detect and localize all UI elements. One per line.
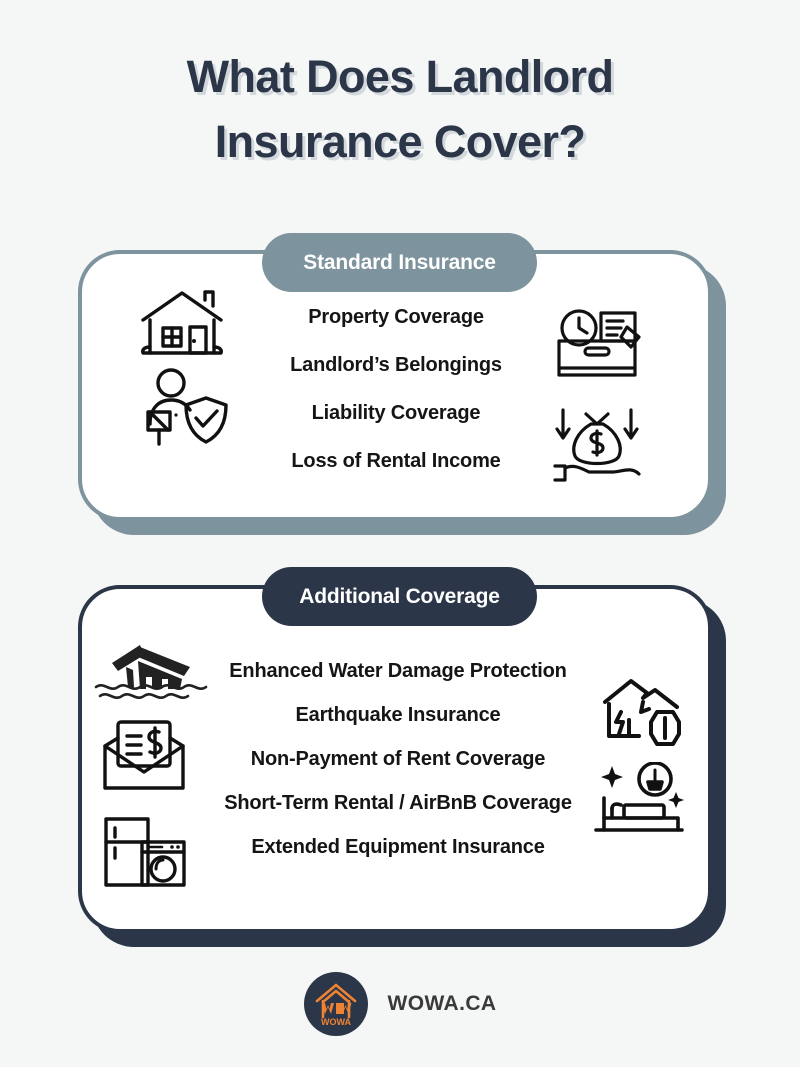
flooded-house-icon — [94, 643, 212, 701]
additional-coverage-pill: Additional Coverage — [262, 567, 537, 626]
belongings-box-icon — [551, 307, 643, 383]
list-item: Short-Term Rental / AirBnB Coverage — [140, 792, 656, 815]
page-title-line-1: What Does Landlord — [0, 44, 800, 109]
list-item: Liability Coverage — [186, 402, 606, 425]
cracked-house-icon — [599, 676, 683, 752]
list-item: Enhanced Water Damage Protection — [140, 660, 656, 683]
list-item: Property Coverage — [186, 306, 606, 329]
wowa-logo-icon[interactable]: WOWA — [304, 972, 368, 1036]
list-item: Extended Equipment Insurance — [140, 836, 656, 859]
list-item: Non-Payment of Rent Coverage — [140, 748, 656, 771]
site-label[interactable]: WOWA.CA — [388, 992, 497, 1016]
logo-wordmark: WOWA — [321, 1017, 351, 1027]
liability-person-shield-icon — [140, 368, 228, 450]
house-icon — [138, 287, 226, 363]
footer: WOWA WOWA.CA — [0, 972, 800, 1036]
list-item: Loss of Rental Income — [186, 450, 606, 473]
standard-insurance-pill: Standard Insurance — [262, 233, 537, 292]
money-bag-hand-icon — [551, 404, 643, 482]
standard-insurance-item-list: Property Coverage Landlord’s Belongings … — [186, 306, 606, 498]
page-title: What Does Landlord Insurance Cover? — [0, 44, 800, 175]
appliances-icon — [102, 816, 188, 890]
bed-cleaning-icon — [594, 762, 686, 834]
envelope-money-icon — [101, 718, 187, 794]
additional-coverage-item-list: Enhanced Water Damage Protection Earthqu… — [140, 660, 656, 880]
page-title-line-2: Insurance Cover? — [0, 109, 800, 174]
list-item: Landlord’s Belongings — [186, 354, 606, 377]
list-item: Earthquake Insurance — [140, 704, 656, 727]
